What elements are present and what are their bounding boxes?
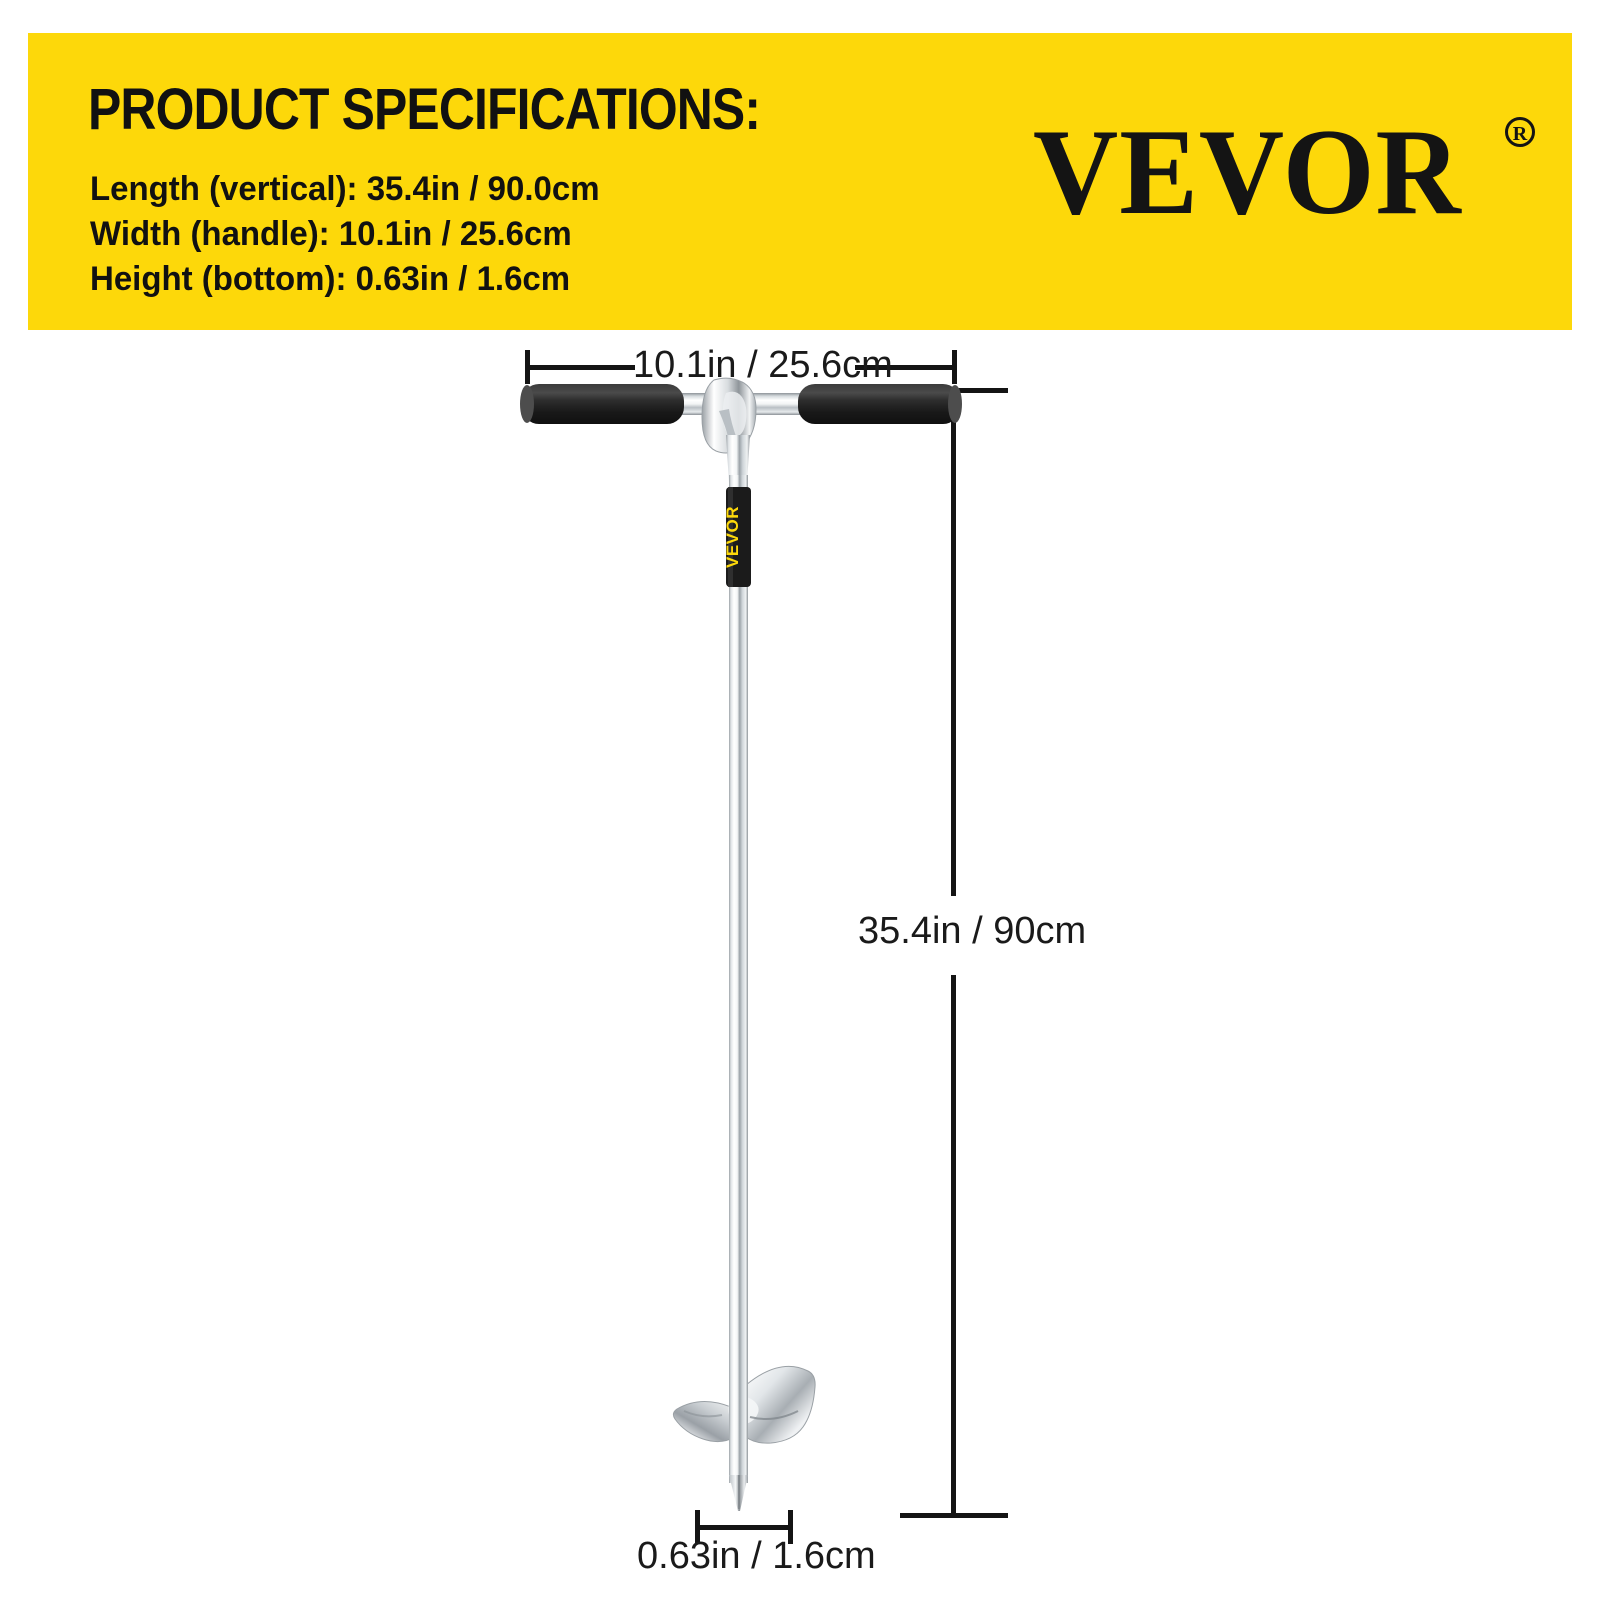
- spec-item-height: Height (bottom): 0.63in / 1.6cm: [90, 257, 963, 302]
- width-dimension-line-left: [525, 365, 635, 370]
- vevor-logo: VEVOR R: [1033, 105, 1553, 235]
- page-title: PRODUCT SPECIFICATIONS:: [88, 81, 760, 139]
- product-spec-page: PRODUCT SPECIFICATIONS: Length (vertical…: [0, 0, 1600, 1600]
- specifications-list: Length (vertical): 35.4in / 90.0cm Width…: [90, 167, 990, 302]
- registered-trademark-icon: R: [1505, 117, 1535, 147]
- spec-item-width: Width (handle): 10.1in / 25.6cm: [90, 212, 963, 257]
- main-shaft: [729, 475, 748, 1483]
- bottom-dimension-line: [695, 1525, 793, 1530]
- handle-grip-left: [520, 384, 684, 424]
- bottom-dimension-label: 0.63in / 1.6cm: [637, 1535, 876, 1577]
- spec-item-length: Length (vertical): 35.4in / 90.0cm: [90, 167, 963, 212]
- shaft-brand-text: VEVOR: [723, 506, 742, 568]
- vevor-wordmark: VEVOR: [1033, 105, 1462, 240]
- handle-grip-right: [798, 384, 962, 424]
- shaft-brand-sleeve: VEVOR: [723, 487, 751, 587]
- shaft-lower: [729, 1380, 748, 1483]
- auger-tip: [729, 1475, 748, 1511]
- product-image-auger: VEVOR: [500, 375, 980, 1515]
- specifications-banner: PRODUCT SPECIFICATIONS: Length (vertical…: [28, 33, 1572, 330]
